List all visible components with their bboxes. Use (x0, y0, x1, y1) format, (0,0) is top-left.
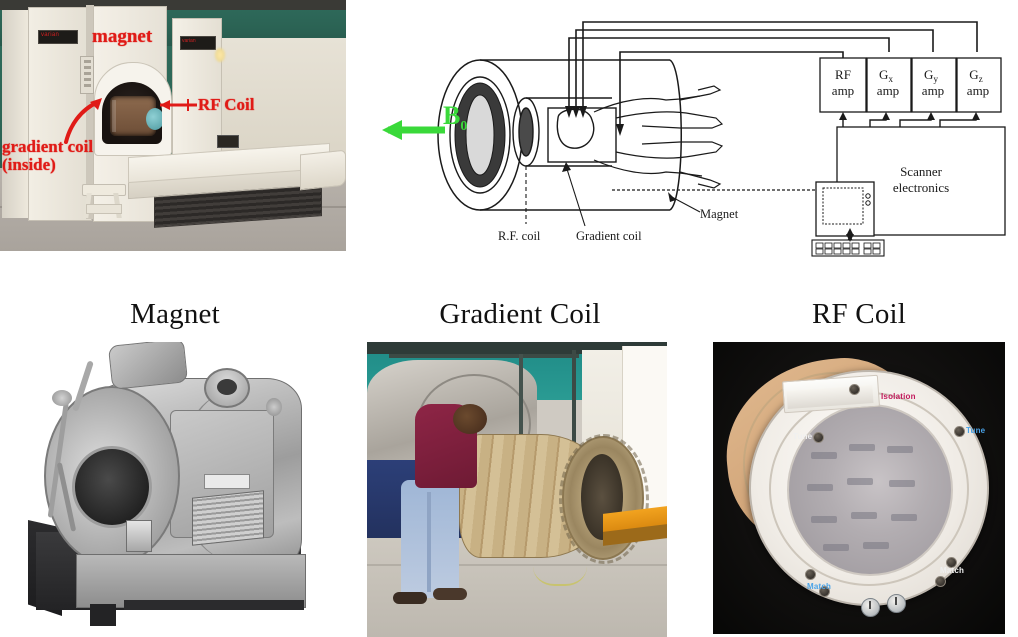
electronics-label-line1: Scanner (900, 164, 943, 179)
rf-coil-label-match-left: Match (807, 582, 831, 591)
magnet-cryogen-valve-assembly (108, 342, 188, 390)
rf-coil-screw-tune-right (954, 426, 965, 437)
magnet-valve-knob-right (266, 398, 282, 416)
slide-root: varian varian (0, 0, 1018, 637)
rf-coil-label-tune-left: Tune (793, 432, 812, 441)
rf-coil-rung (891, 514, 917, 521)
rf-coil-rung (811, 516, 837, 523)
amp-1-line2: amp (877, 83, 899, 98)
amp-0-line2: amp (832, 83, 854, 98)
magnet-foot-block (90, 604, 116, 626)
annotation-gradient-coil-line1: gradient coil (2, 138, 93, 156)
gradient-coil-cable (533, 538, 587, 586)
rf-coil-bore (787, 404, 953, 576)
rf-coil-label-isolation: Isolation (881, 392, 916, 401)
rf-coil-screw-tune-left (813, 432, 824, 443)
step-stool (82, 184, 124, 218)
rf-coil-screw-match-left (805, 569, 816, 580)
callout-rf-coil: R.F. coil (498, 229, 541, 243)
cabinet-brand-left: varian (41, 32, 73, 40)
mri-system-block-diagram: RF amp Gx amp Gy amp Gz amp Scanner elec… (380, 0, 1018, 258)
b0-subscript: 0 (460, 119, 467, 134)
amp-3-line1: G (969, 67, 978, 82)
patient-outline (594, 86, 722, 188)
mri-scanner-room-photo: varian varian (0, 0, 346, 251)
rf-coil-label-tune-right: Tune (966, 426, 985, 435)
magnet-fill-port (204, 368, 250, 408)
rf-coil-screw-match-right-2 (935, 576, 946, 587)
technician-shoe-left (393, 592, 427, 604)
callout-labels: R.F. coil Gradient coil Magnet (498, 207, 739, 243)
callout-magnet: Magnet (700, 207, 739, 221)
bore-status-display (217, 135, 239, 148)
technician-leg-seam (427, 492, 431, 592)
electronics-label-line2: electronics (893, 180, 949, 195)
rf-coil-connector-1 (861, 598, 880, 617)
wall-lamp (215, 48, 225, 62)
rf-coil-head (548, 108, 616, 162)
rf-coil-rung (849, 444, 875, 451)
amp-3-line2: amp (967, 83, 989, 98)
rf-coil-rung (887, 446, 913, 453)
callout-leaders (526, 166, 700, 226)
b0-field-label: B0 (443, 101, 467, 135)
rf-coil-rung (807, 484, 833, 491)
magnet-bore (72, 446, 152, 528)
magnet-nameplate (204, 474, 250, 489)
gantry-keypad (80, 56, 94, 94)
rf-coil-arrow (150, 97, 198, 113)
annotation-magnet: magnet (92, 27, 152, 47)
rf-coil-rung (889, 480, 915, 487)
rf-coil-label-match-right: Match (940, 566, 964, 575)
annotation-gradient-coil-line2: (inside) (2, 156, 93, 174)
rf-coil-rung (823, 544, 849, 551)
magnet-inspection-window (126, 520, 152, 552)
magnet-valve-knob-left (52, 390, 72, 406)
rf-coil-photo: Isolation Tune Tune Match Match (713, 342, 1005, 634)
rf-coil-rung (863, 542, 889, 549)
cabinet-brand-right: varian (182, 38, 212, 46)
gradient-coil-photo (367, 342, 667, 637)
rf-coil-connector-2 (887, 594, 906, 613)
section-title-magnet: Magnet (30, 298, 320, 331)
amp-1-line1: G (879, 67, 888, 82)
rf-wire (620, 52, 843, 128)
schematic-svg: RF amp Gx amp Gy amp Gz amp Scanner elec… (380, 0, 1018, 258)
technician-head (453, 404, 487, 434)
amp-0-line1: RF (835, 67, 851, 82)
b0-symbol: B (443, 101, 460, 130)
rf-coil-screw (849, 384, 860, 395)
b0-field-arrow (382, 120, 445, 140)
electronics-to-amp-wires (843, 118, 976, 127)
annotation-gradient-coil: gradient coil (inside) (2, 138, 93, 174)
patient-table-end (300, 150, 346, 191)
rf-coil-rung (847, 478, 873, 485)
support-frame-top (389, 354, 579, 358)
equipment-cabinet-1 (2, 10, 31, 218)
annotation-rf-coil: RF Coil (198, 96, 255, 114)
callout-gradient-coil: Gradient coil (576, 229, 642, 243)
magnet-vent-grid (192, 490, 264, 546)
operator-console (812, 182, 884, 256)
rf-coil-rung (811, 452, 837, 459)
amp-2-line1: G (924, 67, 933, 82)
magnet-foot-rail (124, 600, 304, 610)
technician-shoe-right (433, 588, 467, 600)
amp-2-line2: amp (922, 83, 944, 98)
magnet-photo (28, 342, 320, 634)
rf-coil-rung (851, 512, 877, 519)
section-title-rf-coil: RF Coil (700, 298, 1018, 331)
wire-arrowheads (565, 106, 624, 136)
section-title-gradient-coil: Gradient Coil (360, 298, 680, 331)
